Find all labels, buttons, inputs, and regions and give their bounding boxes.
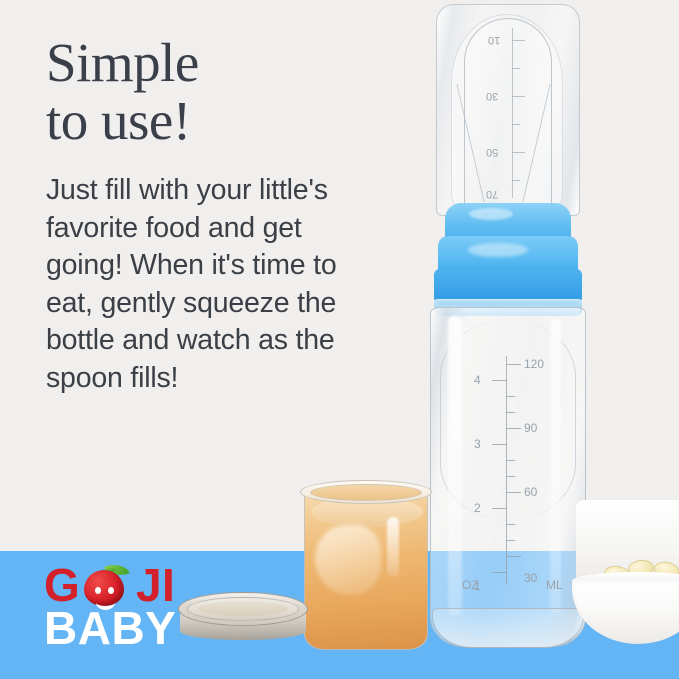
berry-body-shape bbox=[84, 570, 124, 606]
ml-label-60: 60 bbox=[524, 485, 537, 499]
bowl-front-wall bbox=[572, 578, 679, 644]
cap-scale-label-30: 30 bbox=[486, 90, 498, 102]
jar-puree-highlight bbox=[315, 525, 381, 595]
product-marketing-image: Simple to use! Just fill with your littl… bbox=[0, 0, 679, 679]
body-description: Just fill with your little's favorite fo… bbox=[46, 172, 366, 397]
ml-label-90: 90 bbox=[524, 421, 537, 435]
oz-unit-label: OZ bbox=[462, 578, 479, 592]
collar-upper bbox=[445, 203, 571, 239]
jar-puree bbox=[305, 495, 427, 650]
jar-rim-inner bbox=[310, 484, 422, 501]
bottle-highlight-left bbox=[448, 316, 462, 616]
oz-label-2: 2 bbox=[474, 501, 481, 515]
berry-eye-right bbox=[108, 587, 114, 594]
goji-berry-icon bbox=[82, 563, 126, 607]
cap-scale-label-50: 50 bbox=[486, 146, 498, 158]
oz-label-3: 3 bbox=[474, 437, 481, 451]
scale-axis bbox=[506, 356, 507, 584]
feeder-bottle-image: 10 30 50 70 bbox=[418, 4, 598, 649]
cap-measure-scale: 10 30 50 70 bbox=[478, 28, 544, 198]
ml-unit-label: ML bbox=[546, 578, 563, 592]
ml-label-120: 120 bbox=[524, 357, 544, 371]
bottle-measure-scale: 120 4 90 3 60 2 30 1 OZ ML bbox=[470, 356, 566, 586]
bottle-base bbox=[432, 608, 584, 648]
cap-scale-axis bbox=[512, 28, 513, 198]
bottle-blue-collar bbox=[428, 203, 588, 315]
logo-wordmark-baby: BABY bbox=[44, 605, 176, 651]
berry-eye-left bbox=[95, 587, 101, 594]
cap-scale-label-10: 10 bbox=[488, 34, 500, 46]
cap-scale-label-70: 70 bbox=[486, 188, 498, 200]
ml-label-30: 30 bbox=[524, 571, 537, 585]
jar-glass-body bbox=[304, 488, 428, 650]
baby-food-jar bbox=[300, 470, 432, 652]
oz-label-4: 4 bbox=[474, 373, 481, 387]
banana-bowl bbox=[572, 500, 679, 650]
brand-logo: G J I BABY bbox=[44, 562, 224, 658]
page-title: Simple to use! bbox=[46, 34, 376, 150]
jar-highlight bbox=[387, 517, 399, 577]
